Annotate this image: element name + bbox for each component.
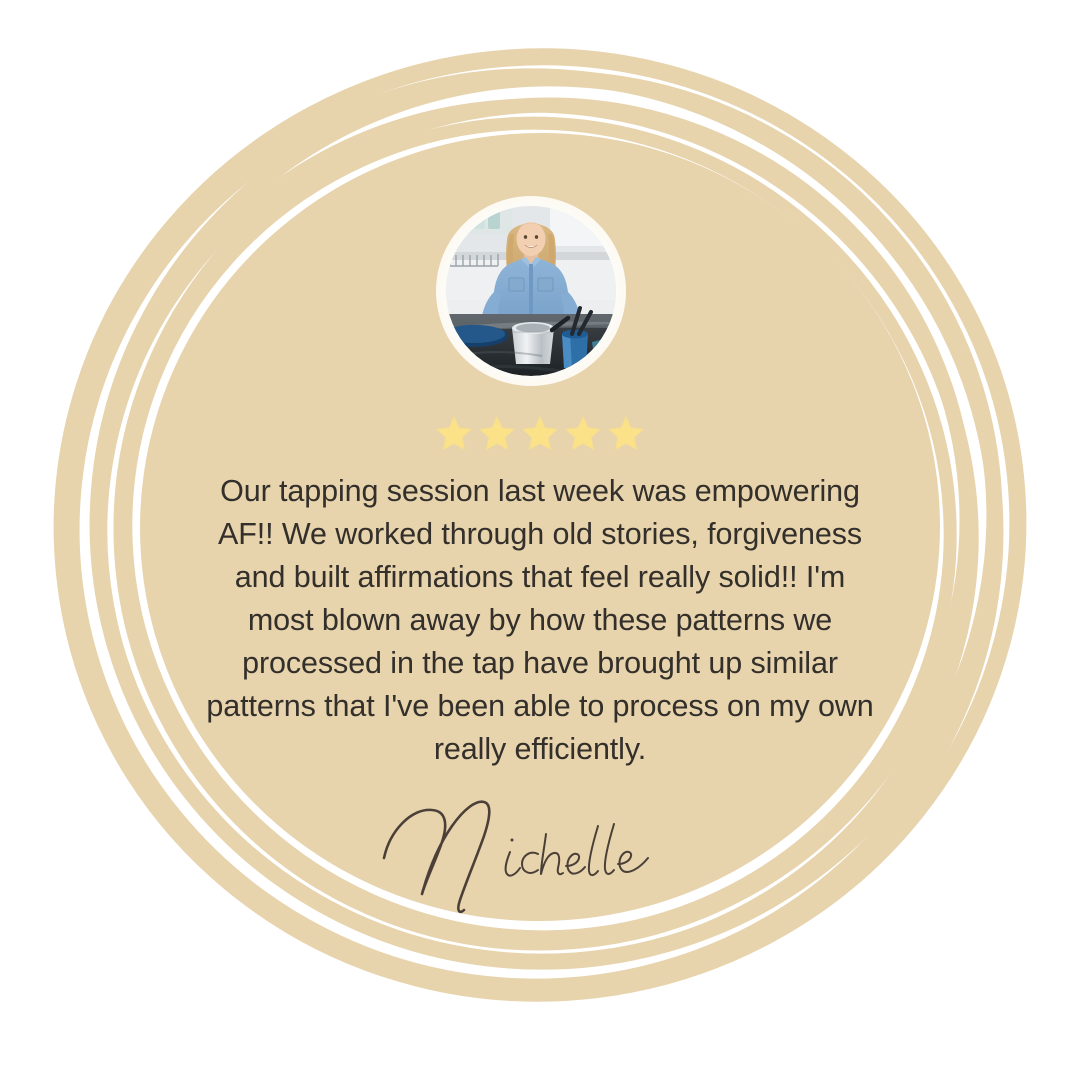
testimonial-card: Our tapping session last week was empowe… <box>0 0 1080 1080</box>
quote-line: really efficiently. <box>140 728 940 771</box>
quote-line: processed in the tap have brought up sim… <box>140 642 940 685</box>
quote-line: most blown away by how these patterns we <box>140 599 940 642</box>
testimonial-quote: Our tapping session last week was empowe… <box>140 470 940 771</box>
profile-photo-icon <box>446 206 616 376</box>
quote-line: patterns that I've been able to process … <box>140 685 940 728</box>
star-rating <box>0 410 1080 456</box>
signature: Michelle <box>360 790 680 920</box>
quote-line: AF!! We worked through old stories, forg… <box>140 513 940 556</box>
quote-line: and built affirmations that feel really … <box>140 556 940 599</box>
quote-line: Our tapping session last week was empowe… <box>140 470 940 513</box>
avatar <box>441 201 621 381</box>
card-content: Our tapping session last week was empowe… <box>0 0 1080 1080</box>
